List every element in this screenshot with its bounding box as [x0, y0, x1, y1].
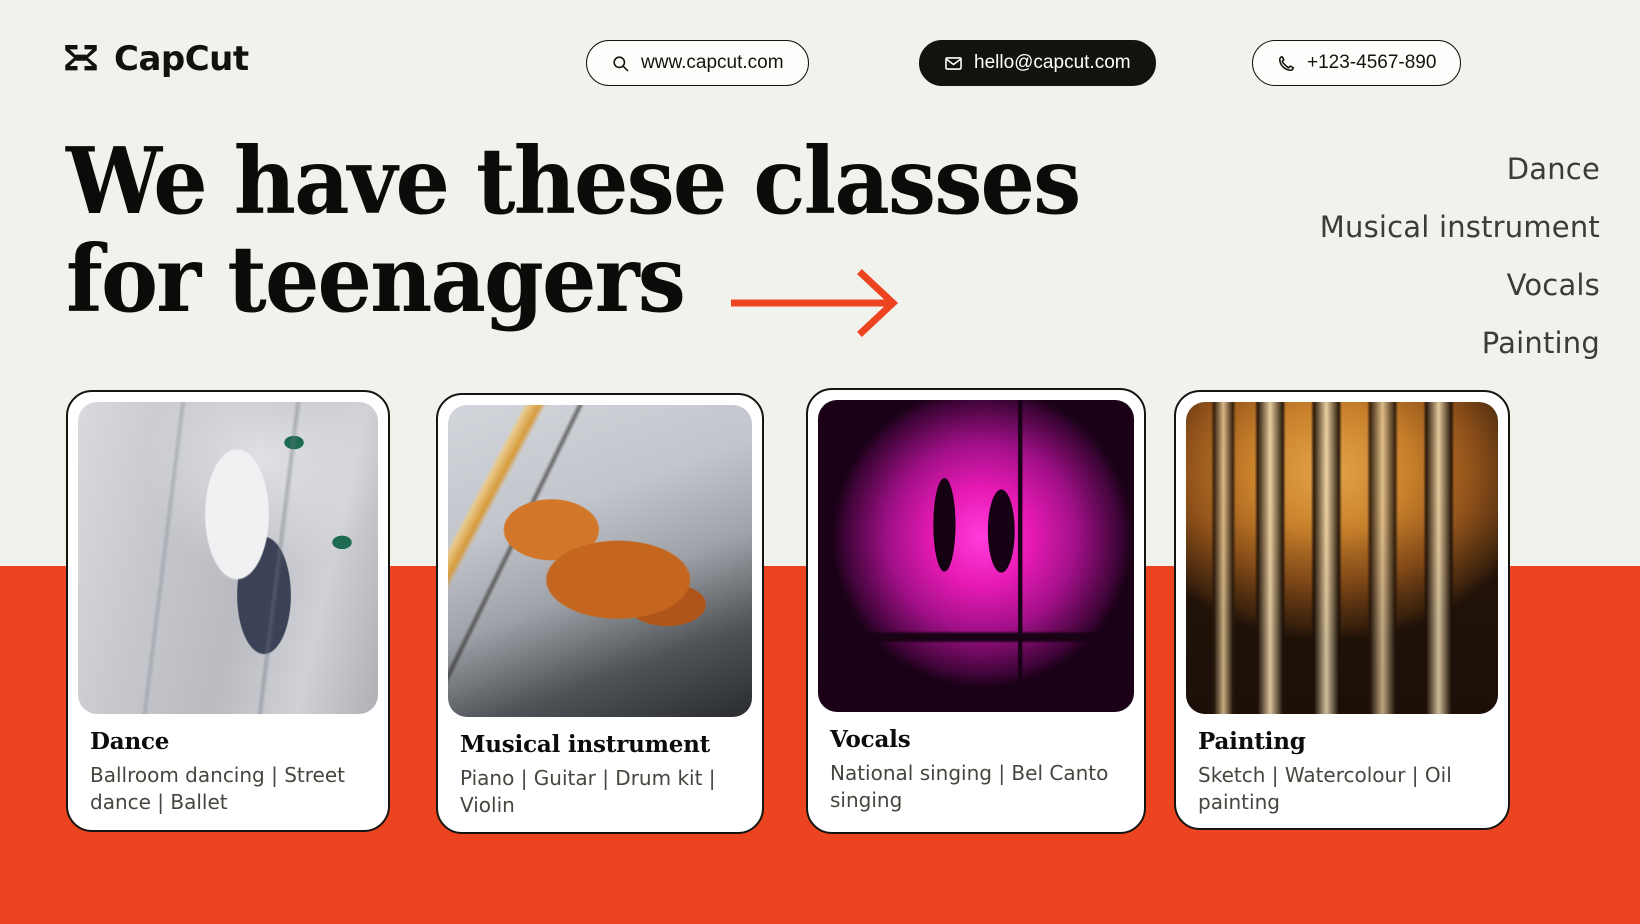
class-card-vocals-body: Vocals National singing | Bel Canto sing…	[818, 712, 1134, 829]
class-card-painting-body: Painting Sketch | Watercolour | Oil pain…	[1186, 714, 1498, 830]
class-card-dance-image	[78, 402, 378, 714]
headline-line-2: for teenagers	[66, 230, 1080, 328]
category-item-musical-instrument[interactable]: Musical instrument	[1320, 198, 1600, 256]
class-card-vocals-title: Vocals	[830, 726, 1122, 753]
class-card-dance-description: Ballroom dancing | Street dance | Ballet	[90, 762, 366, 815]
category-item-dance[interactable]: Dance	[1320, 140, 1600, 198]
class-card-musical-instrument-body: Musical instrument Piano | Guitar | Drum…	[448, 717, 752, 834]
category-item-vocals[interactable]: Vocals	[1320, 256, 1600, 314]
class-card-vocals-image	[818, 400, 1134, 712]
class-card-musical-instrument-description: Piano | Guitar | Drum kit | Violin	[460, 765, 740, 818]
page-title: We have these classes for teenagers	[66, 132, 1080, 329]
class-card-musical-instrument-title: Musical instrument	[460, 731, 740, 758]
contact-pill-phone-label: +123-4567-890	[1307, 52, 1436, 74]
class-card-painting-description: Sketch | Watercolour | Oil painting	[1198, 762, 1486, 815]
brand-logo[interactable]: CapCut	[60, 38, 249, 80]
search-icon	[611, 54, 630, 73]
arrow-right-icon[interactable]	[731, 268, 901, 338]
class-card-dance[interactable]: Dance Ballroom dancing | Street dance | …	[66, 390, 390, 832]
contact-pill-website[interactable]: www.capcut.com	[586, 40, 809, 86]
mail-icon	[944, 54, 963, 73]
headline-line-1: We have these classes	[66, 127, 1079, 235]
class-card-painting[interactable]: Painting Sketch | Watercolour | Oil pain…	[1174, 390, 1510, 830]
contact-pill-website-label: www.capcut.com	[641, 52, 784, 74]
category-item-painting[interactable]: Painting	[1320, 314, 1600, 372]
poster-canvas: CapCut www.capcut.com hello@capcut.com	[0, 0, 1640, 924]
class-card-musical-instrument-image	[448, 405, 752, 717]
page-header: CapCut www.capcut.com hello@capcut.com	[0, 0, 1640, 120]
class-card-painting-image	[1186, 402, 1498, 714]
contact-pill-email[interactable]: hello@capcut.com	[919, 40, 1156, 86]
class-card-dance-body: Dance Ballroom dancing | Street dance | …	[78, 714, 378, 831]
contact-pill-phone[interactable]: +123-4567-890	[1252, 40, 1461, 86]
category-list: Dance Musical instrument Vocals Painting	[1320, 140, 1600, 372]
class-card-painting-title: Painting	[1198, 728, 1486, 755]
class-card-vocals[interactable]: Vocals National singing | Bel Canto sing…	[806, 388, 1146, 834]
capcut-logo-icon	[60, 38, 102, 80]
class-card-musical-instrument[interactable]: Musical instrument Piano | Guitar | Drum…	[436, 393, 764, 834]
class-card-vocals-description: National singing | Bel Canto singing	[830, 760, 1122, 813]
class-card-dance-title: Dance	[90, 728, 366, 755]
phone-icon	[1277, 54, 1296, 73]
brand-name: CapCut	[114, 42, 249, 76]
contact-pill-email-label: hello@capcut.com	[974, 52, 1131, 74]
